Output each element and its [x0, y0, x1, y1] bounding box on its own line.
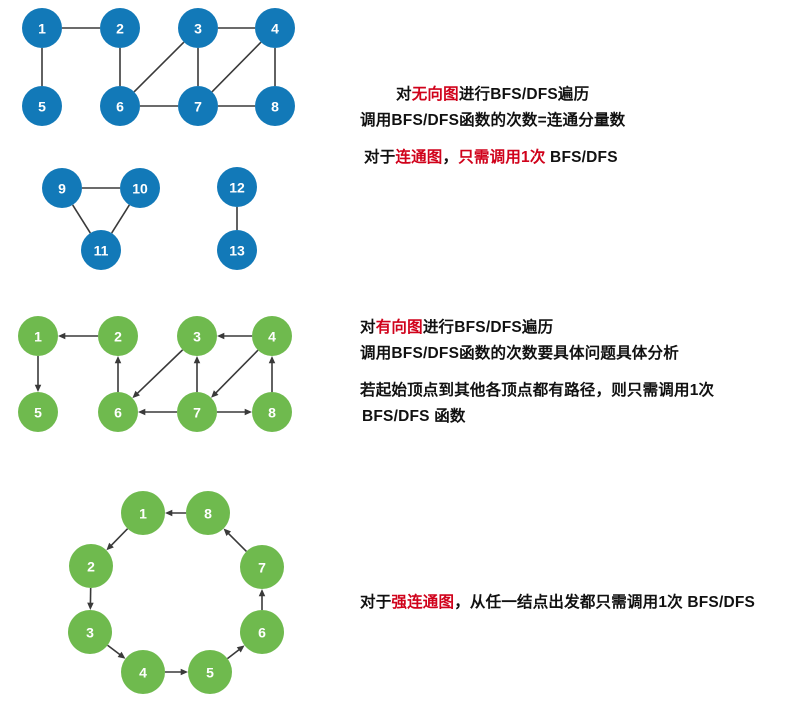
note-directed-line-1: 对有向图进行BFS/DFS遍历 — [360, 315, 714, 341]
arrowhead-8-4 — [269, 356, 276, 363]
arrowhead-4-3 — [217, 333, 224, 340]
node-label-4: 4 — [271, 21, 279, 37]
node-label-3: 3 — [193, 329, 201, 345]
spacer — [360, 366, 714, 378]
arrowhead-7-6 — [138, 409, 145, 416]
arrowhead-2-1 — [58, 333, 65, 340]
spacer — [360, 133, 625, 145]
graph-node-5[interactable]: 5 — [18, 392, 58, 432]
graph-node-5[interactable]: 5 — [188, 650, 232, 694]
highlight-connected-graph: 连通图 — [395, 149, 442, 166]
graph-node-4[interactable]: 4 — [121, 650, 165, 694]
node-label-1: 1 — [38, 21, 46, 37]
arrowhead-6-2 — [115, 356, 122, 363]
graph-node-4[interactable]: 4 — [252, 316, 292, 356]
note-undirected-line-2: 调用BFS/DFS函数的次数=连通分量数 — [360, 108, 625, 134]
node-label-11: 11 — [94, 243, 109, 259]
directed-graph-strongly-connected-cycle-edges — [87, 510, 265, 676]
graph-node-1[interactable]: 1 — [121, 491, 165, 535]
node-label-12: 12 — [229, 180, 245, 196]
directed-graph-grid: 12345678 — [18, 316, 292, 432]
node-label-4: 4 — [139, 665, 147, 681]
node-label-5: 5 — [206, 665, 214, 681]
note-directed-line-4: BFS/DFS 函数 — [360, 404, 714, 430]
graph-node-2[interactable]: 2 — [100, 8, 140, 48]
highlight-directed-graph: 有向图 — [376, 319, 423, 336]
graph-node-11[interactable]: 11 — [81, 230, 121, 270]
text-segment: 对于 — [360, 594, 391, 611]
node-label-7: 7 — [194, 99, 202, 115]
graph-node-5[interactable]: 5 — [22, 86, 62, 126]
text-segment: BFS/DFS — [546, 149, 618, 166]
note-undirected: 对无向图进行BFS/DFS遍历 调用BFS/DFS函数的次数=连通分量数 对于连… — [360, 82, 625, 171]
edge-3-6 — [134, 42, 184, 92]
node-label-2: 2 — [114, 329, 122, 345]
note-strongly-connected: 对于强连通图，从任一结点出发都只需调用1次 BFS/DFS — [360, 590, 755, 616]
edge-1-2 — [109, 529, 127, 547]
node-label-1: 1 — [139, 506, 147, 522]
graph-node-6[interactable]: 6 — [98, 392, 138, 432]
text-segment: ，从任一结点出发都只需调用1次 BFS/DFS — [454, 594, 755, 611]
edge-7-8 — [227, 532, 247, 552]
graph-node-6[interactable]: 6 — [240, 610, 284, 654]
note-directed-line-2: 调用BFS/DFS函数的次数要具体问题具体分析 — [360, 341, 714, 367]
arrowhead-7-8 — [245, 409, 252, 416]
node-label-10: 10 — [132, 181, 148, 197]
node-label-2: 2 — [87, 559, 95, 575]
text-segment: ， — [443, 149, 459, 166]
node-label-4: 4 — [268, 329, 276, 345]
directed-graph-grid-edges — [35, 333, 276, 416]
node-label-3: 3 — [86, 625, 94, 641]
graph-node-1[interactable]: 1 — [18, 316, 58, 356]
node-label-6: 6 — [258, 625, 266, 641]
node-label-8: 8 — [268, 405, 276, 421]
node-label-6: 6 — [114, 405, 122, 421]
arrowhead-4-5 — [181, 669, 188, 676]
text-segment: 进行BFS/DFS遍历 — [423, 319, 554, 336]
node-label-5: 5 — [38, 99, 46, 115]
node-label-6: 6 — [116, 99, 124, 115]
node-label-2: 2 — [116, 21, 124, 37]
text-segment: 对 — [360, 319, 376, 336]
directed-graph-strongly-connected-cycle: 12345678 — [68, 491, 284, 694]
edge-4-7 — [214, 350, 258, 394]
edge-10-11 — [112, 205, 130, 233]
text-segment: 对 — [396, 86, 412, 103]
node-label-7: 7 — [193, 405, 201, 421]
graph-node-2[interactable]: 2 — [98, 316, 138, 356]
node-label-13: 13 — [229, 243, 245, 259]
graph-node-6[interactable]: 6 — [100, 86, 140, 126]
graph-node-8[interactable]: 8 — [255, 86, 295, 126]
graph-node-1[interactable]: 1 — [22, 8, 62, 48]
edge-9-11 — [73, 205, 91, 233]
graph-node-3[interactable]: 3 — [178, 8, 218, 48]
arrowhead-2-3 — [87, 603, 94, 610]
graph-node-3[interactable]: 3 — [68, 610, 112, 654]
graph-node-8[interactable]: 8 — [252, 392, 292, 432]
arrowhead-7-3 — [194, 356, 201, 363]
node-label-8: 8 — [271, 99, 279, 115]
note-directed-line-3: 若起始顶点到其他各顶点都有路径，则只需调用1次 — [360, 378, 714, 404]
note-directed: 对有向图进行BFS/DFS遍历 调用BFS/DFS函数的次数要具体问题具体分析 … — [360, 315, 714, 429]
edge-3-6 — [136, 350, 183, 395]
node-label-8: 8 — [204, 506, 212, 522]
undirected-graph-two-components: 910111213 — [42, 167, 257, 270]
undirected-graph-components: 12345678 — [22, 8, 295, 126]
graph-node-3[interactable]: 3 — [177, 316, 217, 356]
node-label-5: 5 — [34, 405, 42, 421]
node-label-9: 9 — [58, 181, 66, 197]
arrowhead-8-1 — [165, 510, 172, 517]
text-segment: 对于 — [364, 149, 395, 166]
edge-4-7 — [212, 42, 261, 92]
graph-node-7[interactable]: 7 — [240, 545, 284, 589]
diagram-canvas: 123456789101112131234567812345678 对无向图进行… — [0, 0, 805, 713]
node-label-3: 3 — [194, 21, 202, 37]
arrowhead-6-7 — [259, 589, 266, 596]
graph-node-2[interactable]: 2 — [69, 544, 113, 588]
graph-node-13[interactable]: 13 — [217, 230, 257, 270]
text-segment: 进行BFS/DFS遍历 — [459, 86, 590, 103]
highlight-strongly-connected-graph: 强连通图 — [391, 594, 454, 611]
graph-node-7[interactable]: 7 — [178, 86, 218, 126]
graph-node-10[interactable]: 10 — [120, 168, 160, 208]
note-undirected-line-1: 对无向图进行BFS/DFS遍历 — [360, 82, 625, 108]
undirected-graph-components-edges — [42, 28, 275, 106]
graph-node-12[interactable]: 12 — [217, 167, 257, 207]
arrowhead-1-5 — [35, 385, 42, 392]
graph-node-4[interactable]: 4 — [255, 8, 295, 48]
note-strongly-connected-line-1: 对于强连通图，从任一结点出发都只需调用1次 BFS/DFS — [360, 590, 755, 616]
node-label-1: 1 — [34, 329, 42, 345]
graph-node-9[interactable]: 9 — [42, 168, 82, 208]
graph-node-7[interactable]: 7 — [177, 392, 217, 432]
node-label-7: 7 — [258, 560, 266, 576]
graph-node-8[interactable]: 8 — [186, 491, 230, 535]
note-undirected-line-3: 对于连通图，只需调用1次 BFS/DFS — [360, 145, 625, 171]
highlight-call-once: 只需调用1次 — [458, 149, 545, 166]
highlight-undirected-graph: 无向图 — [412, 86, 459, 103]
